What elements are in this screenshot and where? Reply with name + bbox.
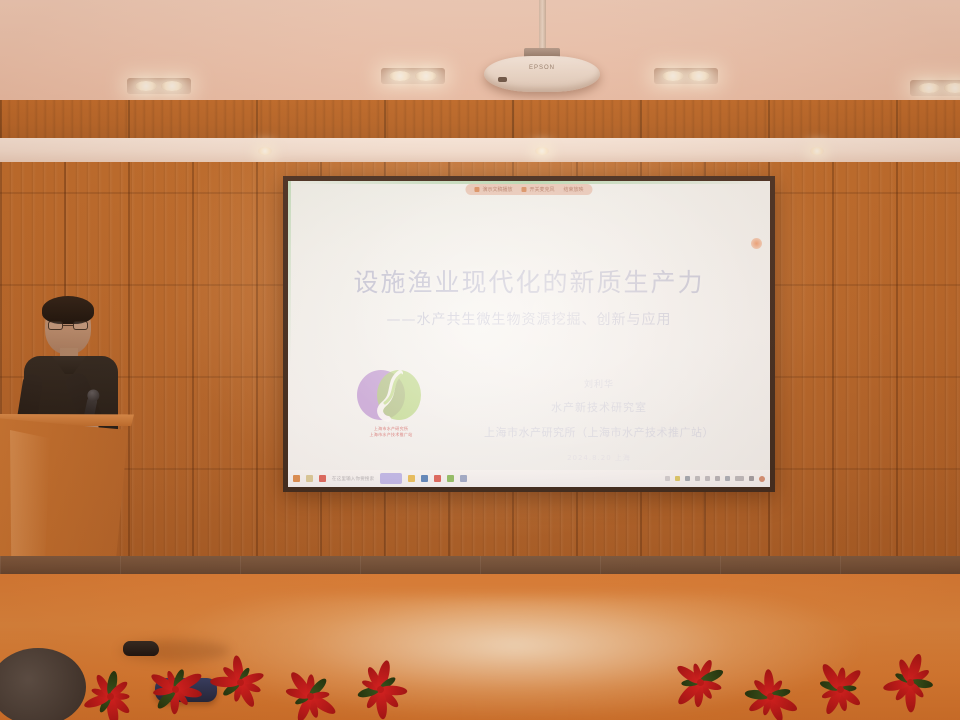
flower-center bbox=[837, 686, 844, 693]
tray-battery-icon[interactable] bbox=[715, 476, 720, 481]
poinsettia-flower bbox=[744, 674, 796, 718]
logo-text: 上海市水产研究所 上海市水产技术推广站 bbox=[354, 426, 428, 438]
tray-notify-icon[interactable] bbox=[749, 476, 754, 481]
poinsettia-flower bbox=[214, 660, 266, 704]
flower-center bbox=[697, 679, 704, 686]
start-icon[interactable] bbox=[293, 475, 300, 482]
tray-volume-icon[interactable] bbox=[705, 476, 710, 481]
app-icon-3[interactable] bbox=[434, 475, 441, 482]
folder-icon[interactable] bbox=[306, 475, 313, 482]
flower-center bbox=[237, 679, 244, 686]
active-window-thumb[interactable] bbox=[380, 473, 402, 484]
glasses-icon bbox=[48, 321, 88, 330]
organization-logo: 上海市水产研究所 上海市水产技术推广站 bbox=[354, 366, 428, 446]
stage-baseboard bbox=[0, 556, 960, 576]
slide-author-lab: 水产新技术研究室 bbox=[438, 399, 760, 415]
slide-title: 设施渔业现代化的新质生产力 bbox=[288, 263, 770, 299]
toolbar-item-mic[interactable]: 开关麦克风 bbox=[521, 186, 554, 193]
poinsettia-flower bbox=[354, 667, 406, 711]
search-label[interactable]: 在这里输入你要搜索 bbox=[332, 476, 374, 482]
tray-ime-icon[interactable] bbox=[725, 476, 730, 481]
soffit-downlight bbox=[535, 147, 549, 155]
taskbar-tray-group[interactable] bbox=[665, 476, 765, 482]
tray-cloud-icon[interactable] bbox=[685, 476, 690, 481]
presentation-icon bbox=[474, 187, 479, 192]
app-icon-5[interactable] bbox=[460, 475, 467, 482]
speaker-shoe bbox=[123, 641, 159, 656]
poinsettia-flower bbox=[674, 660, 726, 704]
screen-edge-tint bbox=[288, 181, 291, 487]
flower-center bbox=[107, 693, 114, 700]
app-icon-2[interactable] bbox=[421, 475, 428, 482]
tray-clock-label[interactable] bbox=[735, 476, 744, 481]
toolbar-item-present[interactable]: 演示文稿播放 bbox=[474, 186, 512, 193]
app-icon-4[interactable] bbox=[447, 475, 454, 482]
tray-alert-icon[interactable] bbox=[759, 476, 765, 482]
flower-center bbox=[907, 679, 914, 686]
flower-center bbox=[307, 693, 314, 700]
ceiling-light bbox=[910, 80, 960, 96]
projector-brand-label: EPSON bbox=[484, 65, 600, 71]
ceiling-light bbox=[381, 68, 445, 84]
poinsettia-flower bbox=[149, 667, 201, 711]
presentation-toolbar[interactable]: 演示文稿播放 开关麦克风 结束放映 bbox=[465, 184, 592, 195]
slide-subtitle: ——水产共生微生物资源挖掘、创新与应用 bbox=[288, 309, 770, 329]
upper-wood-panel bbox=[0, 100, 960, 140]
flower-center bbox=[377, 686, 384, 693]
tray-network-icon[interactable] bbox=[695, 476, 700, 481]
poinsettia-flower bbox=[284, 674, 336, 718]
poinsettia-flower bbox=[814, 667, 866, 711]
app-icon-1[interactable] bbox=[408, 475, 415, 482]
os-taskbar[interactable]: 在这里输入你要搜索 bbox=[288, 470, 770, 487]
projection-screen-frame: 演示文稿播放 开关麦克风 结束放映 设施渔业现代化的新质生产力 ——水产共生微生… bbox=[283, 176, 775, 492]
microphone-icon bbox=[521, 187, 526, 192]
projection-screen: 演示文稿播放 开关麦克风 结束放映 设施渔业现代化的新质生产力 ——水产共生微生… bbox=[288, 181, 770, 487]
slide-author-block: 刘利华 水产新技术研究室 上海市水产研究所（上海市水产技术推广站） bbox=[438, 377, 760, 440]
ceiling-soffit bbox=[0, 138, 960, 164]
projector-mount-rod bbox=[539, 0, 546, 52]
logo-svg bbox=[354, 366, 424, 424]
conference-hall-photo: EPSON 演示文稿播放 开关麦克风 结束放映 设施渔业现代化的新质生产力 ——… bbox=[0, 0, 960, 720]
flower-center bbox=[767, 693, 774, 700]
slide-author-organization: 上海市水产研究所（上海市水产技术推广站） bbox=[438, 424, 760, 440]
poinsettia-flower bbox=[884, 660, 936, 704]
tray-up-icon[interactable] bbox=[665, 476, 670, 481]
slide-author-name: 刘利华 bbox=[438, 377, 760, 390]
soffit-downlight bbox=[810, 147, 824, 155]
tray-shield-icon[interactable] bbox=[675, 476, 680, 481]
poinsettia-flower bbox=[84, 674, 136, 718]
laser-pointer-dot bbox=[751, 238, 762, 249]
wps-icon[interactable] bbox=[319, 475, 326, 482]
logo-text-line2: 上海市水产技术推广站 bbox=[354, 432, 428, 438]
ceiling-light bbox=[654, 68, 718, 84]
taskbar-left-group[interactable]: 在这里输入你要搜索 bbox=[293, 473, 467, 484]
ceiling-light bbox=[127, 78, 191, 94]
projector: EPSON bbox=[484, 56, 600, 92]
flower-row bbox=[0, 660, 960, 720]
flower-center bbox=[172, 686, 179, 693]
slide-date-place: 2024.8.20 上海 bbox=[438, 453, 760, 463]
soffit-downlight bbox=[258, 147, 272, 155]
speaker-hair bbox=[42, 296, 94, 324]
logo-mark bbox=[354, 366, 424, 424]
toolbar-item-stop[interactable]: 结束放映 bbox=[564, 186, 584, 193]
projector-lens bbox=[498, 77, 507, 82]
